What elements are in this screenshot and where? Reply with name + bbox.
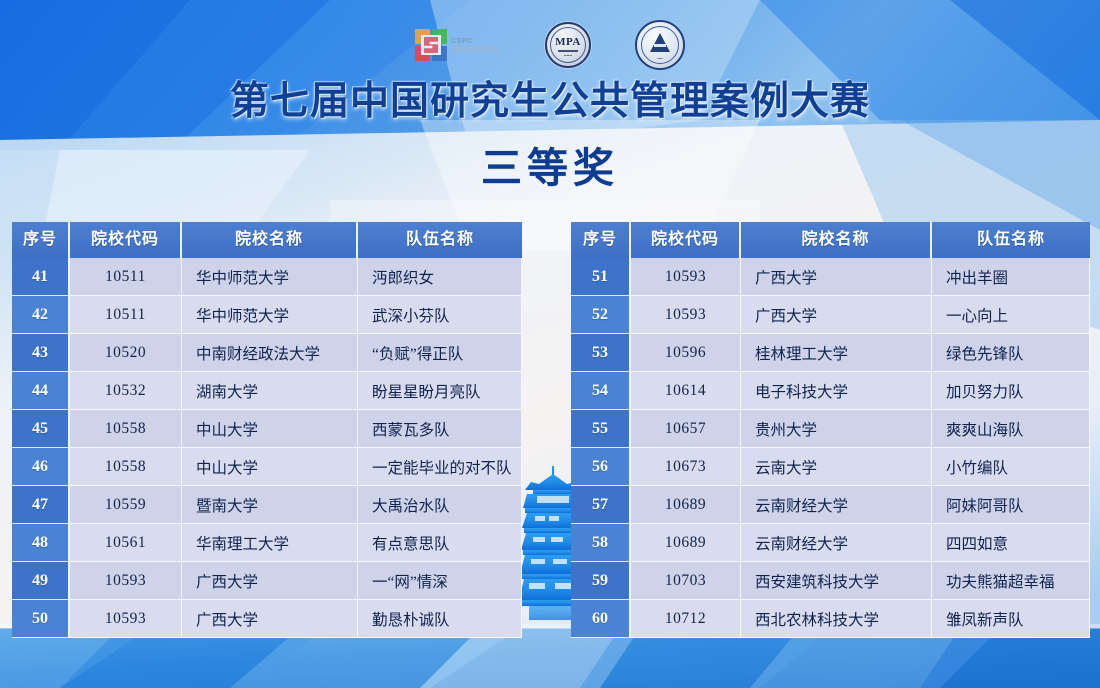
cell-school-code: 10657 xyxy=(631,410,741,448)
cell-index: 44 xyxy=(12,372,70,410)
cell-team-name: 大禹治水队 xyxy=(358,486,522,524)
table-header-row: 序号 院校代码 院校名称 队伍名称 xyxy=(571,222,1090,258)
cell-index: 48 xyxy=(12,524,70,562)
table-header-row: 序号 院校代码 院校名称 队伍名称 xyxy=(12,222,522,258)
table-row: 5810689云南财经大学四四如意 xyxy=(571,524,1090,562)
col-header-team: 队伍名称 xyxy=(932,222,1090,258)
cspc-mark-icon xyxy=(415,29,447,61)
mpa-abbr: MPA xyxy=(547,36,589,48)
table-row: 5610673云南大学小竹编队 xyxy=(571,448,1090,486)
table-row: 4810561华南理工大学有点意思队 xyxy=(12,524,522,562)
cell-index: 53 xyxy=(571,334,631,372)
cell-school-name: 电子科技大学 xyxy=(741,372,932,410)
cell-team-name: 勤恳朴诚队 xyxy=(358,600,522,638)
table-row: 5710689云南财经大学阿妹阿哥队 xyxy=(571,486,1090,524)
cell-school-name: 广西大学 xyxy=(741,296,932,334)
page-title: 第七届中国研究生公共管理案例大赛 xyxy=(0,70,1100,126)
cell-school-name: 华中师范大学 xyxy=(182,258,358,296)
cell-school-name: 中山大学 xyxy=(182,410,358,448)
cell-school-name: 中南财经政法大学 xyxy=(182,334,358,372)
logo-row: CSPC MPA •••••• •••• xyxy=(0,14,1100,76)
cell-index: 59 xyxy=(571,562,631,600)
cell-team-name: 爽爽山海队 xyxy=(932,410,1090,448)
table-row: 6010712西北农林科技大学雏凤新声队 xyxy=(571,600,1090,638)
cell-school-name: 暨南大学 xyxy=(182,486,358,524)
cell-school-name: 湖南大学 xyxy=(182,372,358,410)
table-row: 5010593广西大学勤恳朴诚队 xyxy=(12,600,522,638)
cell-team-name: 一“网”情深 xyxy=(358,562,522,600)
table-row: 5410614电子科技大学加贝努力队 xyxy=(571,372,1090,410)
cell-team-name: “负赋”得正队 xyxy=(358,334,522,372)
cell-school-code: 10593 xyxy=(631,258,741,296)
cell-school-code: 10558 xyxy=(70,410,182,448)
col-header-index: 序号 xyxy=(12,222,70,258)
col-header-school: 院校名称 xyxy=(182,222,358,258)
cell-index: 49 xyxy=(12,562,70,600)
cell-school-name: 贵州大学 xyxy=(741,410,932,448)
university-tower-icon xyxy=(650,33,670,52)
cell-school-code: 10520 xyxy=(70,334,182,372)
table-row: 5910703西安建筑科技大学功夫熊猫超幸福 xyxy=(571,562,1090,600)
col-header-team: 队伍名称 xyxy=(358,222,522,258)
table-header-right: 序号 院校代码 院校名称 队伍名称 xyxy=(571,222,1090,258)
cell-school-code: 10511 xyxy=(70,296,182,334)
cell-team-name: 盼星星盼月亮队 xyxy=(358,372,522,410)
cell-school-name: 中山大学 xyxy=(182,448,358,486)
cell-team-name: 武深小芬队 xyxy=(358,296,522,334)
cell-index: 42 xyxy=(12,296,70,334)
cell-school-code: 10703 xyxy=(631,562,741,600)
table-row: 4310520中南财经政法大学“负赋”得正队 xyxy=(12,334,522,372)
table-row: 4110511华中师范大学沔郎织女 xyxy=(12,258,522,296)
cell-index: 41 xyxy=(12,258,70,296)
cell-team-name: 一心向上 xyxy=(932,296,1090,334)
table-header-left: 序号 院校代码 院校名称 队伍名称 xyxy=(12,222,522,258)
cell-school-code: 10614 xyxy=(631,372,741,410)
cell-school-code: 10593 xyxy=(70,562,182,600)
cell-school-name: 广西大学 xyxy=(182,562,358,600)
cell-index: 54 xyxy=(571,372,631,410)
cell-school-name: 西安建筑科技大学 xyxy=(741,562,932,600)
cell-team-name: 西蒙瓦多队 xyxy=(358,410,522,448)
col-header-code: 院校代码 xyxy=(631,222,741,258)
cell-school-code: 10593 xyxy=(631,296,741,334)
cell-school-code: 10561 xyxy=(70,524,182,562)
university-seal-year: •••• xyxy=(637,56,683,61)
table-row: 4410532湖南大学盼星星盼月亮队 xyxy=(12,372,522,410)
mpa-seal-logo: MPA •••••• xyxy=(545,22,591,68)
cell-team-name: 雏凤新声队 xyxy=(932,600,1090,638)
awards-table-left: 序号 院校代码 院校名称 队伍名称 4110511华中师范大学沔郎织女42105… xyxy=(12,222,522,638)
table-row: 4910593广西大学一“网”情深 xyxy=(12,562,522,600)
cell-team-name: 沔郎织女 xyxy=(358,258,522,296)
cell-team-name: 有点意思队 xyxy=(358,524,522,562)
cell-school-name: 西北农林科技大学 xyxy=(741,600,932,638)
cell-school-name: 广西大学 xyxy=(182,600,358,638)
cell-school-code: 10596 xyxy=(631,334,741,372)
cell-team-name: 加贝努力队 xyxy=(932,372,1090,410)
cell-team-name: 小竹编队 xyxy=(932,448,1090,486)
cell-index: 50 xyxy=(12,600,70,638)
cell-index: 56 xyxy=(571,448,631,486)
cell-index: 46 xyxy=(12,448,70,486)
cell-team-name: 四四如意 xyxy=(932,524,1090,562)
col-header-index: 序号 xyxy=(571,222,631,258)
cell-school-name: 云南大学 xyxy=(741,448,932,486)
cell-index: 47 xyxy=(12,486,70,524)
table-body-right: 5110593广西大学冲出羊圈5210593广西大学一心向上5310596桂林理… xyxy=(571,258,1090,638)
cell-index: 55 xyxy=(571,410,631,448)
awards-table-right: 序号 院校代码 院校名称 队伍名称 5110593广西大学冲出羊圈5210593… xyxy=(571,222,1090,638)
cell-team-name: 一定能毕业的对不队 xyxy=(358,448,522,486)
cell-school-code: 10511 xyxy=(70,258,182,296)
cell-school-name: 华中师范大学 xyxy=(182,296,358,334)
cell-index: 57 xyxy=(571,486,631,524)
cspc-abbr: CSPC xyxy=(451,38,501,45)
table-row: 5210593广西大学一心向上 xyxy=(571,296,1090,334)
table-row: 4210511华中师范大学武深小芬队 xyxy=(12,296,522,334)
cell-school-name: 桂林理工大学 xyxy=(741,334,932,372)
cell-school-name: 广西大学 xyxy=(741,258,932,296)
cell-team-name: 冲出羊圈 xyxy=(932,258,1090,296)
table-row: 5310596桂林理工大学绿色先锋队 xyxy=(571,334,1090,372)
col-header-code: 院校代码 xyxy=(70,222,182,258)
cell-school-code: 10558 xyxy=(70,448,182,486)
cell-index: 58 xyxy=(571,524,631,562)
cell-school-code: 10593 xyxy=(70,600,182,638)
table-row: 4710559暨南大学大禹治水队 xyxy=(12,486,522,524)
cell-school-code: 10673 xyxy=(631,448,741,486)
mpa-dots: •••••• xyxy=(547,53,589,58)
university-seal-logo: •••• xyxy=(635,20,685,70)
cell-school-code: 10689 xyxy=(631,524,741,562)
table-row: 5510657贵州大学爽爽山海队 xyxy=(571,410,1090,448)
cell-school-code: 10689 xyxy=(631,486,741,524)
cell-school-name: 华南理工大学 xyxy=(182,524,358,562)
table-body-left: 4110511华中师范大学沔郎织女4210511华中师范大学武深小芬队43105… xyxy=(12,258,522,638)
table-row: 4610558中山大学一定能毕业的对不队 xyxy=(12,448,522,486)
col-header-school: 院校名称 xyxy=(741,222,932,258)
cell-index: 51 xyxy=(571,258,631,296)
cell-team-name: 绿色先锋队 xyxy=(932,334,1090,372)
cell-index: 52 xyxy=(571,296,631,334)
cell-team-name: 功夫熊猫超幸福 xyxy=(932,562,1090,600)
cell-school-code: 10712 xyxy=(631,600,741,638)
cell-index: 60 xyxy=(571,600,631,638)
mpa-bar xyxy=(558,50,578,52)
cspc-logo: CSPC xyxy=(415,29,501,61)
page-subtitle: 三等奖 xyxy=(0,134,1100,194)
cell-school-code: 10532 xyxy=(70,372,182,410)
cell-index: 45 xyxy=(12,410,70,448)
table-row: 5110593广西大学冲出羊圈 xyxy=(571,258,1090,296)
table-row: 4510558中山大学西蒙瓦多队 xyxy=(12,410,522,448)
cell-index: 43 xyxy=(12,334,70,372)
cell-team-name: 阿妹阿哥队 xyxy=(932,486,1090,524)
cell-school-code: 10559 xyxy=(70,486,182,524)
cell-school-name: 云南财经大学 xyxy=(741,524,932,562)
cell-school-name: 云南财经大学 xyxy=(741,486,932,524)
